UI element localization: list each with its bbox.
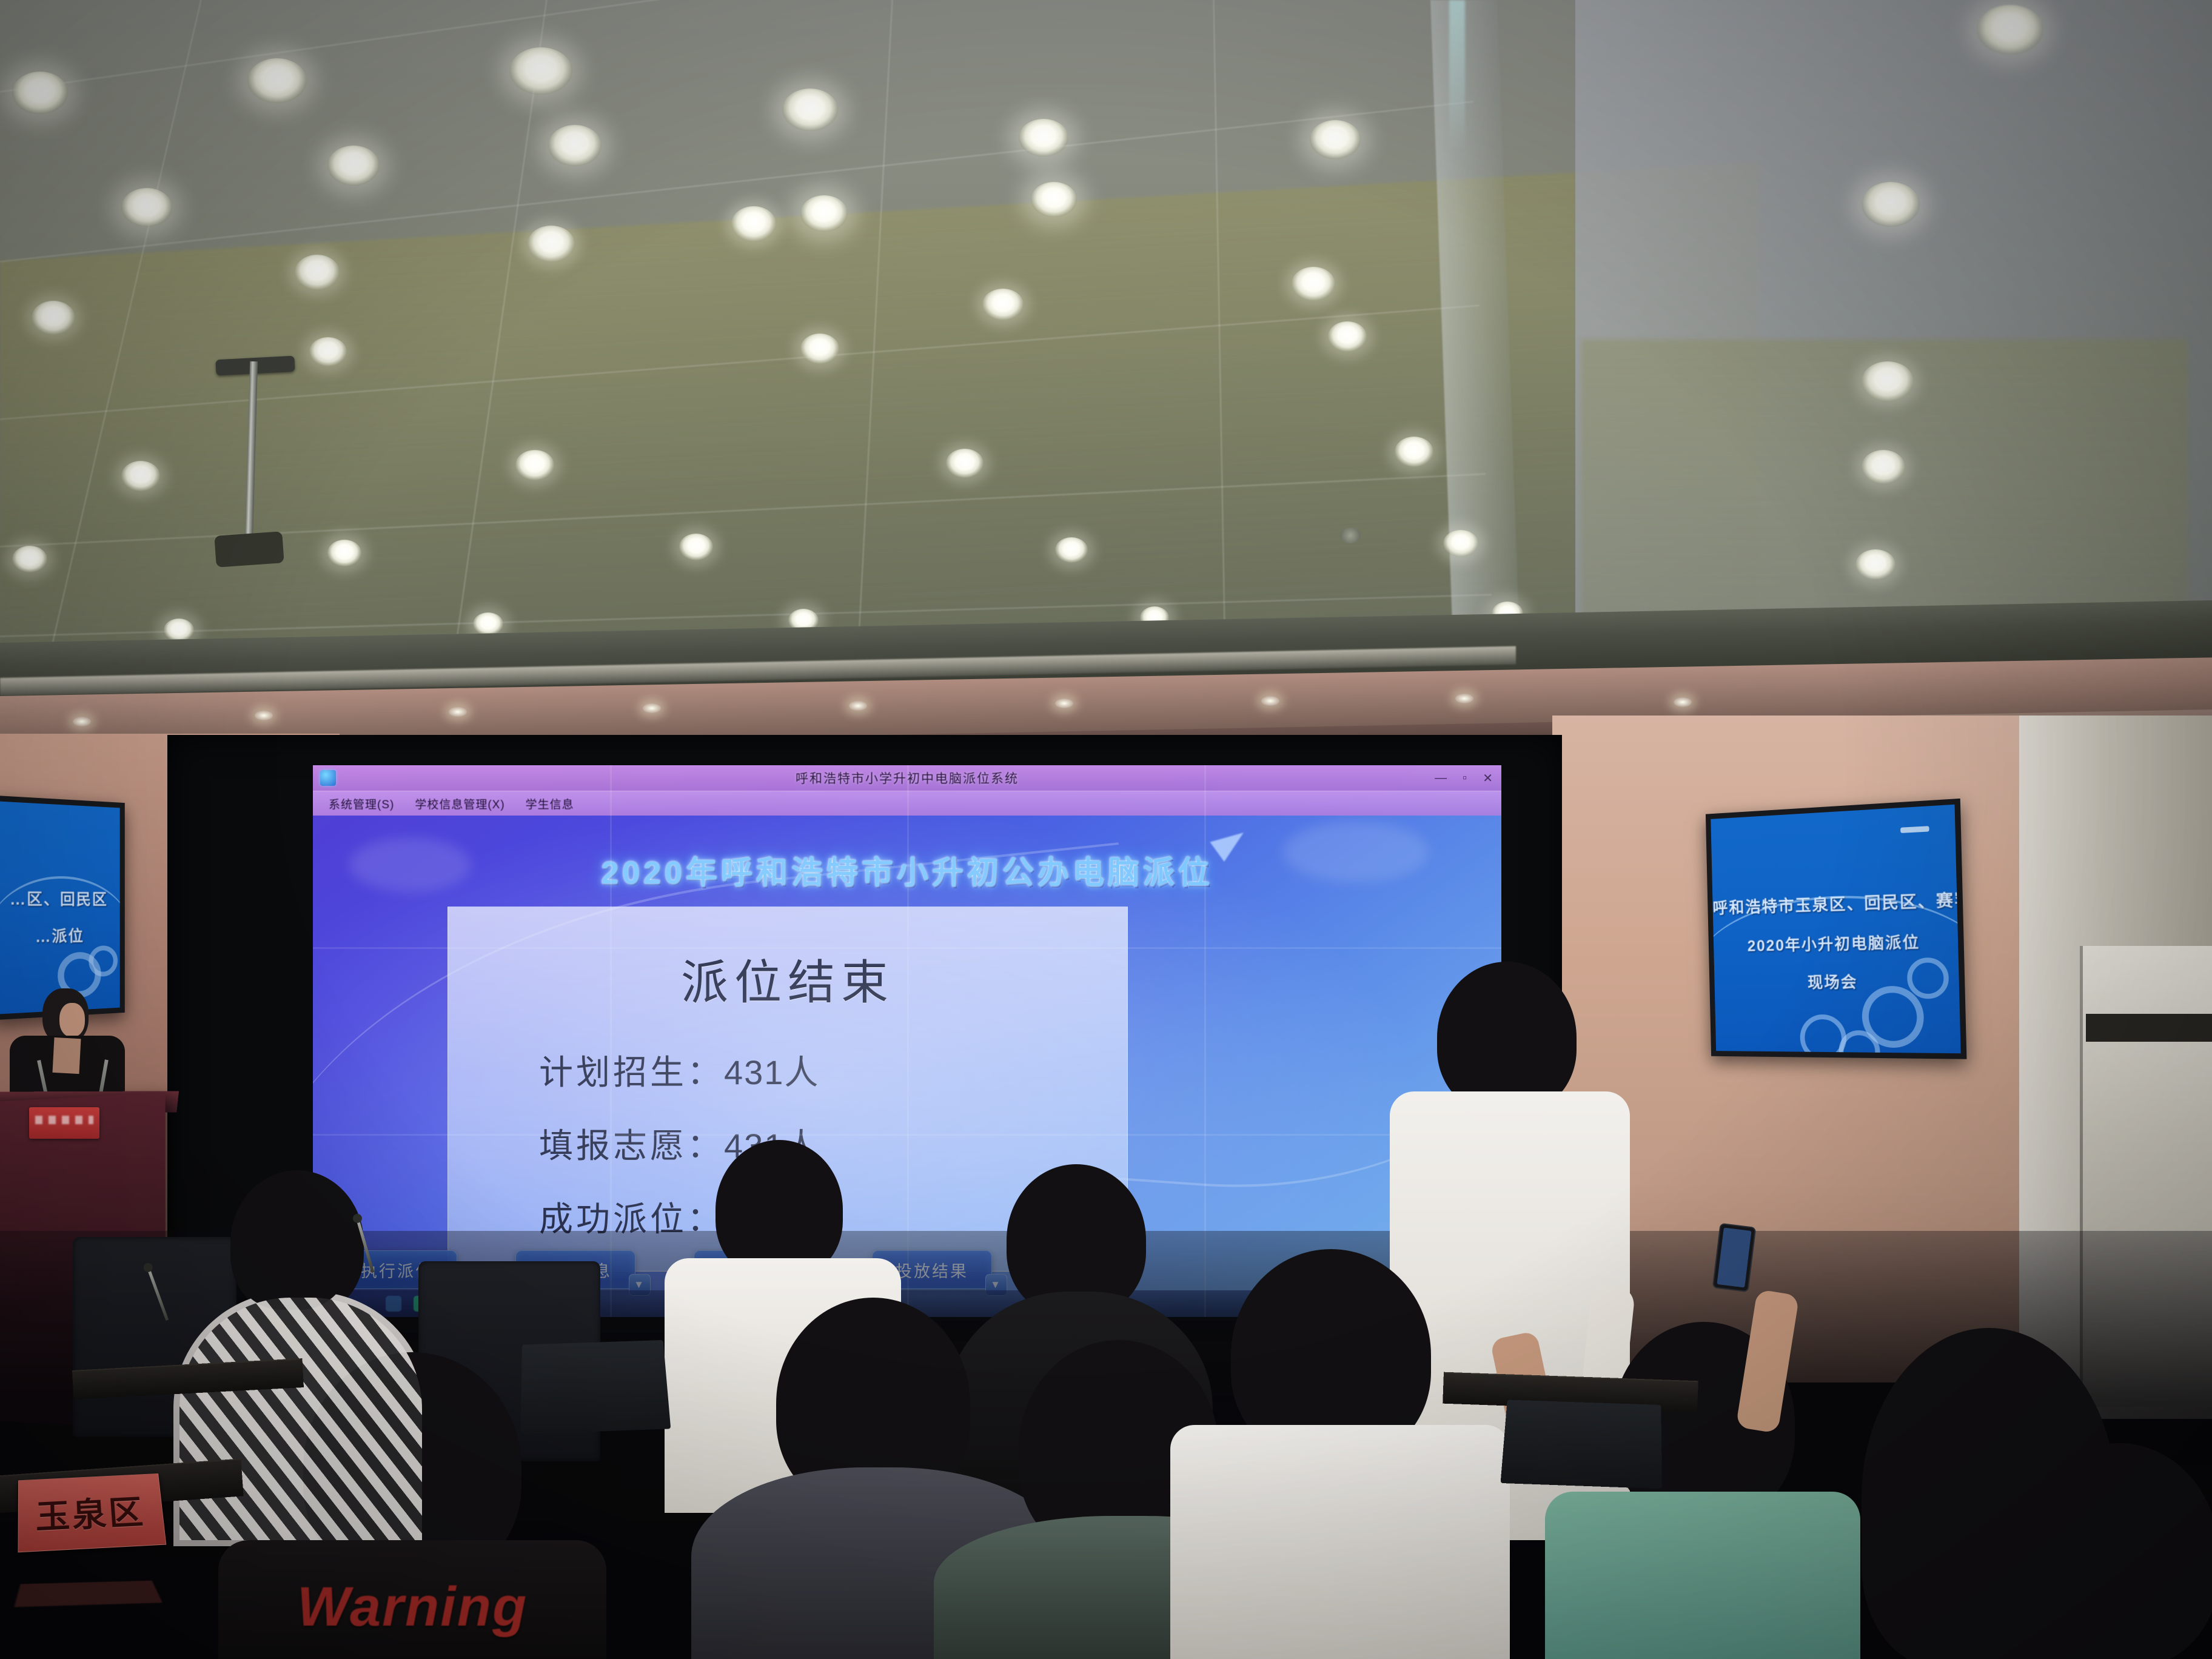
menu-item-school-info-management[interactable]: 学校信息管理(X)	[415, 796, 504, 812]
placard-base	[15, 1581, 163, 1607]
ceiling-downlight	[121, 461, 160, 491]
audience-patterned-top	[179, 1298, 422, 1540]
ceiling-downlight	[1395, 437, 1433, 467]
warning-tshirt: Warning	[218, 1540, 606, 1659]
wall-tv-right-face: 呼和浩特市玉泉区、回民区、赛罕区 2020年小升初电脑派位 现场会	[1711, 805, 1960, 1053]
ceiling-downlight	[1862, 361, 1914, 401]
ceiling-downlight	[1977, 5, 2043, 55]
ceiling-downlight	[782, 89, 838, 131]
ceiling-downlight	[731, 206, 776, 241]
ceiling-downlight	[509, 47, 572, 95]
sprinkler-head-icon	[1340, 528, 1361, 543]
maximize-icon[interactable]: ▫	[1463, 771, 1467, 785]
ceiling-downlight	[32, 301, 75, 335]
ceiling-downlight	[800, 333, 839, 364]
ceiling-downlight	[1862, 182, 1920, 227]
warning-shirt-text: Warning	[297, 1575, 528, 1639]
ceiling-downlight	[247, 58, 307, 103]
laptop	[521, 1340, 671, 1434]
ceiling-downlight	[12, 546, 47, 572]
placard-yuquan-district: 玉泉区	[18, 1473, 166, 1552]
close-icon[interactable]: ✕	[1483, 771, 1493, 786]
tv-brand-badge	[1900, 826, 1929, 833]
menu-item-student-info[interactable]: 学生信息	[526, 796, 574, 812]
stage-spotlight	[255, 711, 273, 720]
led-panel-seam	[313, 947, 1501, 949]
result-row: 填报志愿：431人	[539, 1119, 1127, 1168]
ceiling-downlight	[309, 337, 347, 366]
standing-man-head	[1437, 962, 1577, 1113]
ceiling-downlight	[327, 146, 380, 186]
door-header-strip	[2086, 1014, 2212, 1042]
stage-spotlight	[1674, 697, 1692, 707]
ceiling-downlight	[982, 289, 1024, 320]
stage-spotlight	[449, 707, 467, 717]
decorative-curve	[0, 875, 120, 1006]
ceiling-downlight	[1855, 549, 1895, 580]
wall-tv-left: …区、回民区 …派位	[0, 795, 125, 1020]
speaker-face	[59, 1003, 85, 1037]
menu-item-system-management[interactable]: 系统管理(S)	[329, 796, 394, 812]
ceiling-downlight	[164, 618, 194, 642]
ceiling-downlight	[800, 195, 848, 232]
audience-head	[230, 1176, 352, 1310]
stage-spotlight	[643, 703, 661, 713]
ceiling-downlight	[1310, 120, 1361, 159]
column-highlight	[1449, 0, 1465, 152]
ceiling-grid-line	[0, 0, 1467, 93]
ceiling-downlight	[473, 612, 503, 635]
result-row: 计划招生：431人	[539, 1045, 1127, 1094]
minimize-icon[interactable]: —	[1435, 771, 1447, 785]
ceiling-downlight	[327, 540, 361, 566]
laptop	[1501, 1399, 1662, 1489]
wall-tv-right: 呼和浩特市玉泉区、回民区、赛罕区 2020年小升初电脑派位 现场会	[1706, 799, 1967, 1059]
ceiling-downlight	[548, 125, 602, 166]
wall-tv-left-face: …区、回民区 …派位	[0, 801, 120, 1014]
ceiling-downlight	[295, 255, 340, 290]
result-row-label: 填报志愿：	[539, 1127, 724, 1165]
stage-spotlight	[1261, 696, 1279, 706]
ceiling-downlight	[1055, 537, 1088, 563]
projector-unit	[214, 531, 284, 568]
led-panel-seam	[313, 1134, 1501, 1136]
ceiling-downlight	[1292, 267, 1335, 301]
ceiling-downlight	[121, 188, 172, 227]
placard-label: 玉泉区	[36, 1486, 147, 1539]
result-heading: 派位结束	[448, 945, 1127, 1013]
stage-spotlight	[1055, 699, 1073, 708]
ceiling-downlight	[1019, 119, 1068, 156]
ceiling-downlight	[1031, 182, 1077, 217]
result-row-label: 计划招生：	[539, 1053, 724, 1091]
ceiling-downlight	[679, 534, 713, 560]
audience-icon-shirt	[1170, 1425, 1510, 1659]
ceiling-downlight	[528, 226, 575, 262]
stage-spotlight	[73, 717, 91, 726]
audience-green-shirt	[1545, 1492, 1860, 1659]
phone-screen	[1717, 1228, 1751, 1288]
stage-spotlight	[1455, 694, 1473, 703]
podium-name-plate	[29, 1107, 99, 1139]
ceiling-downlight	[12, 72, 68, 114]
conference-hall-photo: …区、回民区 …派位 呼和浩特市小学升初中电脑派位系统 — ▫ ✕ 系统管理	[0, 0, 2212, 1659]
audience-head	[2019, 1443, 2212, 1659]
stage-spotlight	[849, 701, 867, 711]
ceiling-downlight	[515, 450, 554, 480]
ceiling-downlight	[1862, 450, 1905, 484]
result-row-value: 431人	[724, 1053, 819, 1091]
speaker-collar	[53, 1037, 81, 1074]
ceiling-downlight	[1443, 530, 1478, 557]
decorative-curve	[1711, 890, 1960, 1044]
ceiling-downlight	[946, 449, 984, 478]
ceiling-downlight	[1328, 321, 1367, 352]
window-controls[interactable]: — ▫ ✕	[1435, 765, 1493, 791]
